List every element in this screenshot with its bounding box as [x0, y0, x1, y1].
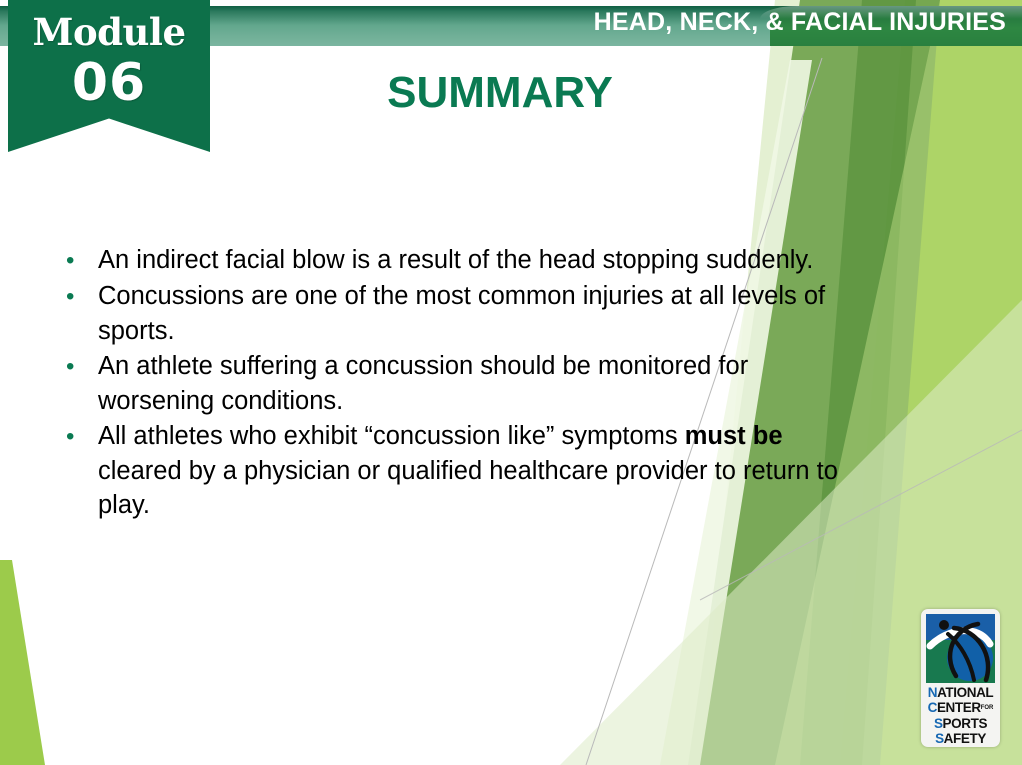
decor-poly-bottom-left-wedge	[0, 560, 45, 765]
bullet-indirect-facial-blow: •An indirect facial blow is a result of …	[58, 243, 848, 278]
summary-bullet-list: •An indirect facial blow is a result of …	[58, 243, 848, 524]
ncss-logo-reflection: SPORTS SAFETY	[921, 748, 1000, 765]
bullet-text: All athletes who exhibit “concussion lik…	[98, 419, 848, 523]
bullet-clearance-required: •All athletes who exhibit “concussion li…	[58, 419, 848, 523]
bullet-monitor-athlete: •An athlete suffering a concussion shoul…	[58, 349, 848, 418]
page-title: SUMMARY	[0, 68, 1000, 118]
bullet-dot-icon: •	[58, 419, 98, 454]
bullet-dot-icon: •	[58, 279, 98, 314]
bullet-dot-icon: •	[58, 349, 98, 384]
ncss-logo-mark	[926, 614, 995, 683]
bullet-text: An indirect facial blow is a result of t…	[98, 243, 848, 278]
bullet-emphasis: must be	[685, 422, 783, 450]
ncss-line-sports: SPORTS	[921, 716, 1000, 731]
ncss-line-safety: SAFETY	[921, 731, 1000, 746]
logo-head-dot	[939, 620, 949, 630]
ncss-line-national: NATIONAL	[921, 685, 1000, 700]
slide-canvas: HEAD, NECK, & FACIAL INJURIES Module 06 …	[0, 0, 1022, 765]
bullet-dot-icon: •	[58, 243, 98, 278]
ncss-line-center: CENTERFOR	[921, 700, 1000, 716]
bullet-text: An athlete suffering a concussion should…	[98, 349, 848, 418]
bullet-text: Concussions are one of the most common i…	[98, 279, 848, 348]
bullet-concussions-common: •Concussions are one of the most common …	[58, 279, 848, 348]
ncss-logo: NATIONAL CENTERFOR SPORTS SAFETY	[921, 609, 1000, 747]
module-word: Module	[8, 0, 210, 51]
header-title: HEAD, NECK, & FACIAL INJURIES	[594, 8, 1006, 37]
ncss-logo-text: NATIONAL CENTERFOR SPORTS SAFETY	[921, 685, 1000, 746]
